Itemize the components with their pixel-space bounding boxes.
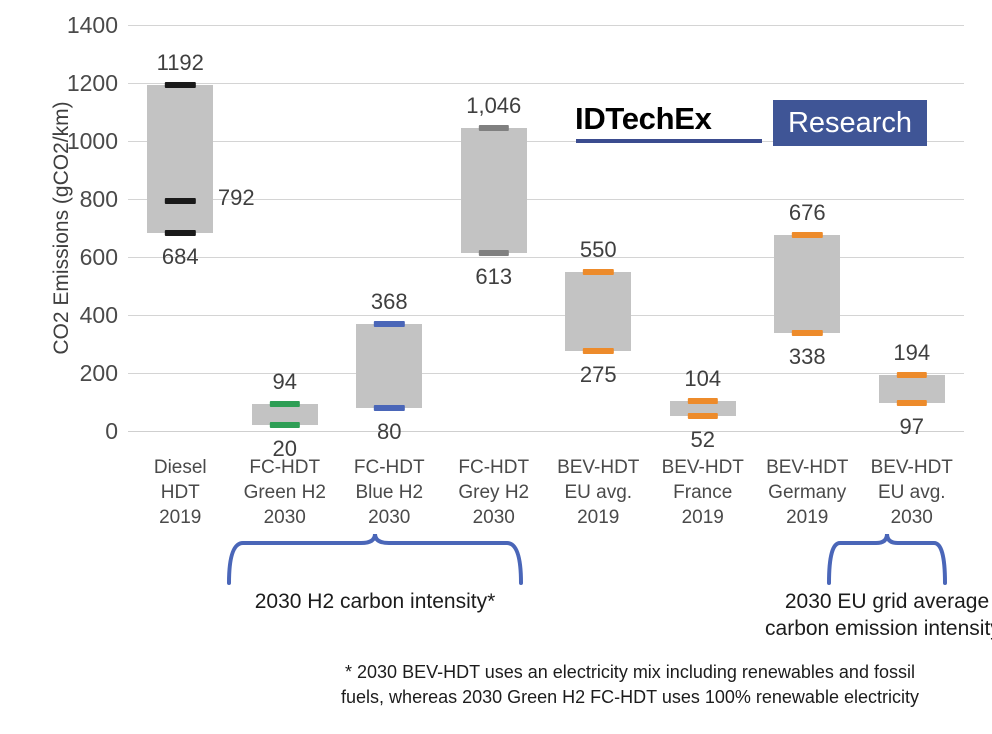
x-axis-category-label-line: Blue H2 (337, 480, 442, 505)
bar-body[interactable] (774, 235, 840, 333)
brace-right-caption: 2030 EU grid average carbon emission int… (697, 588, 992, 642)
bar-cap-high (479, 125, 509, 131)
y-axis-tick-labels: 1400120010008006004002000 (0, 25, 118, 431)
y-axis-tick-label: 200 (18, 362, 118, 385)
bar-cap-high (374, 321, 404, 327)
x-axis-category-label: BEV-HDTGermany2019 (755, 455, 860, 530)
bar-cap-high (792, 232, 822, 238)
x-axis-category-label: FC-HDTGrey H22030 (442, 455, 547, 530)
x-axis-category-label: FC-HDTBlue H22030 (337, 455, 442, 530)
bar-low-value-label: 275 (580, 364, 617, 386)
bar-group[interactable]: 19497 (860, 25, 965, 431)
x-axis-category-label-line: BEV-HDT (755, 455, 860, 480)
brace-left-caption: 2030 H2 carbon intensity* (225, 588, 525, 615)
bar-group[interactable]: 1,046613 (442, 25, 547, 431)
bar-high-value-label: 94 (273, 371, 297, 393)
bar-body[interactable] (147, 85, 213, 232)
y-axis-tick-label: 1200 (18, 72, 118, 95)
y-axis-tick-label: 1400 (18, 14, 118, 37)
x-axis-category-label: FC-HDTGreen H22030 (233, 455, 338, 530)
y-axis-tick-label: 800 (18, 188, 118, 211)
bar-group[interactable]: 7921192684 (128, 25, 233, 431)
brace-right-caption-line2: carbon emission intensity* (697, 615, 992, 642)
bar-cap-high (688, 398, 718, 404)
x-axis-category-label-line: 2019 (546, 505, 651, 530)
x-axis-category-labels: DieselHDT2019FC-HDTGreen H22030FC-HDTBlu… (128, 455, 964, 535)
bar-group[interactable]: 9420 (233, 25, 338, 431)
bar-cap-low (583, 348, 613, 354)
brace-left (225, 533, 525, 585)
logo-product-text: Research (773, 100, 927, 146)
bar-low-value-label: 97 (900, 416, 924, 438)
x-axis-category-label-line: Germany (755, 480, 860, 505)
bar-low-value-label: 613 (475, 266, 512, 288)
footnote: * 2030 BEV-HDT uses an electricity mix i… (290, 660, 970, 710)
x-axis-category-label: DieselHDT2019 (128, 455, 233, 530)
bar-cap-high (583, 269, 613, 275)
x-axis-category-label-line: 2019 (128, 505, 233, 530)
footnote-line2: fuels, whereas 2030 Green H2 FC-HDT uses… (290, 685, 970, 710)
bar-cap-high (270, 401, 300, 407)
x-axis-category-label-line: BEV-HDT (546, 455, 651, 480)
x-axis-category-label: BEV-HDTEU avg.2019 (546, 455, 651, 530)
x-axis-category-label-line: BEV-HDT (860, 455, 965, 480)
bar-body[interactable] (461, 128, 527, 254)
x-axis-category-label-line: Green H2 (233, 480, 338, 505)
y-axis-tick-label: 400 (18, 304, 118, 327)
x-axis-category-label-line: 2030 (233, 505, 338, 530)
bar-cap-low (374, 405, 404, 411)
footnote-line1: * 2030 BEV-HDT uses an electricity mix i… (290, 660, 970, 685)
x-axis-category-label-line: 2019 (755, 505, 860, 530)
bar-high-value-label: 676 (789, 202, 826, 224)
bar-cap-high (165, 82, 195, 88)
bar-high-value-label: 1192 (157, 52, 204, 74)
bar-low-value-label: 684 (162, 246, 199, 268)
bar-low-value-label: 80 (377, 421, 401, 443)
x-axis-category-label-line: EU avg. (546, 480, 651, 505)
x-axis-category-label-line: Diesel (128, 455, 233, 480)
x-axis-category-label-line: Grey H2 (442, 480, 547, 505)
bar-cap-low (165, 230, 195, 236)
x-axis-category-label: BEV-HDTEU avg.2030 (860, 455, 965, 530)
bar-cap-low (479, 250, 509, 256)
brace-right-caption-line1: 2030 EU grid average (697, 588, 992, 615)
x-axis-category-label-line: BEV-HDT (651, 455, 756, 480)
bar-cap-high (897, 372, 927, 378)
x-axis-category-label: BEV-HDTFrance2019 (651, 455, 756, 530)
x-axis-category-label-line: FC-HDT (233, 455, 338, 480)
bar-cap-low (792, 330, 822, 336)
y-axis-tick-label: 1000 (18, 130, 118, 153)
logo-underline (576, 139, 762, 143)
y-axis-tick-label: 600 (18, 246, 118, 269)
x-axis-category-label-line: 2019 (651, 505, 756, 530)
bar-high-value-label: 550 (580, 239, 617, 261)
x-axis-category-label-line: 2030 (442, 505, 547, 530)
bar-high-value-label: 104 (684, 368, 721, 390)
x-axis-category-label-line: France (651, 480, 756, 505)
x-axis-category-label-line: 2030 (860, 505, 965, 530)
brace-right (826, 533, 948, 585)
bar-group[interactable]: 10452 (651, 25, 756, 431)
bar-group[interactable]: 36880 (337, 25, 442, 431)
bar-group[interactable]: 676338 (755, 25, 860, 431)
bar-body[interactable] (565, 272, 631, 352)
bar-cap-low (897, 400, 927, 406)
bar-high-value-label: 1,046 (466, 95, 521, 117)
idtechex-research-logo: IDTechEx Research (575, 100, 927, 146)
bar-low-value-label: 338 (789, 346, 826, 368)
bar-high-value-label: 194 (893, 342, 930, 364)
x-axis-category-label-line: EU avg. (860, 480, 965, 505)
x-axis-category-label-line: FC-HDT (442, 455, 547, 480)
bar-median-marker (165, 198, 195, 204)
plot-area: 79211926849420368801,0466135502751045267… (128, 25, 964, 431)
y-axis-tick-label: 0 (18, 420, 118, 443)
co2-emissions-range-chart: CO2 Emissions (gCO2/km) 1400120010008006… (0, 0, 992, 734)
x-axis-category-label-line: HDT (128, 480, 233, 505)
x-axis-category-label-line: 2030 (337, 505, 442, 530)
bar-high-value-label: 368 (371, 291, 408, 313)
bar-cap-low (270, 422, 300, 428)
gridline (128, 431, 964, 432)
x-axis-category-label-line: FC-HDT (337, 455, 442, 480)
bar-body[interactable] (879, 375, 945, 403)
brace-left-caption-text: 2030 H2 carbon intensity* (255, 590, 496, 613)
bar-low-value-label: 52 (691, 429, 715, 451)
bar-body[interactable] (356, 324, 422, 408)
bar-cap-low (688, 413, 718, 419)
bar-group[interactable]: 550275 (546, 25, 651, 431)
